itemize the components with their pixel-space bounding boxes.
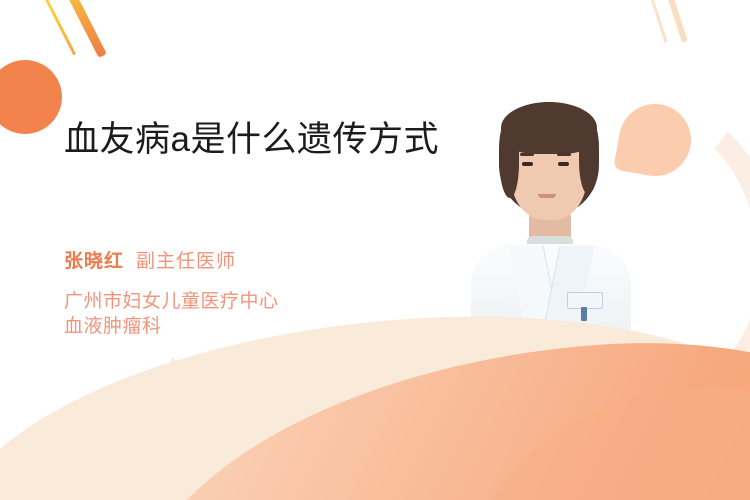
doctor-portrait	[455, 96, 645, 364]
portrait-badge-clip-icon	[581, 307, 587, 321]
wave-accent-bottom-icon	[459, 369, 750, 500]
stripe-top-left-thin-icon	[38, 0, 76, 55]
wave-orange-bottom-icon	[110, 322, 750, 500]
portrait-hair-left	[499, 122, 519, 198]
doctor-hospital-line1: 广州市妇女儿童医疗中心	[64, 289, 424, 314]
doctor-hospital-line2: 血液肿瘤科	[64, 314, 424, 339]
stripe-top-right-b-icon	[663, 0, 688, 43]
portrait-brow-left	[520, 153, 534, 156]
portrait-mouth	[538, 194, 556, 198]
doctor-credit-block: 张晓红副主任医师 广州市妇女儿童医疗中心 血液肿瘤科	[64, 248, 424, 339]
doctor-question-card: 血友病a是什么遗传方式 张晓红副主任医师 广州市妇女儿童医疗中心 血液肿瘤科	[0, 0, 750, 500]
portrait-eye-right	[558, 162, 569, 166]
portrait-brow-right	[557, 153, 571, 156]
doctor-name: 张晓红	[64, 251, 124, 272]
page-title: 血友病a是什么遗传方式	[64, 116, 444, 163]
portrait-eye-left	[522, 162, 533, 166]
stripe-bottom-left-icon	[153, 357, 175, 403]
stripe-top-left-thick-icon	[57, 0, 107, 58]
doctor-hospital: 广州市妇女儿童医疗中心 血液肿瘤科	[64, 289, 424, 339]
stripe-top-right-a-icon	[645, 0, 668, 43]
circle-orange-left-icon	[0, 60, 62, 134]
doctor-job-title: 副主任医师	[136, 251, 236, 272]
portrait-hair-right	[579, 122, 599, 194]
doctor-name-row: 张晓红副主任医师	[64, 248, 424, 275]
